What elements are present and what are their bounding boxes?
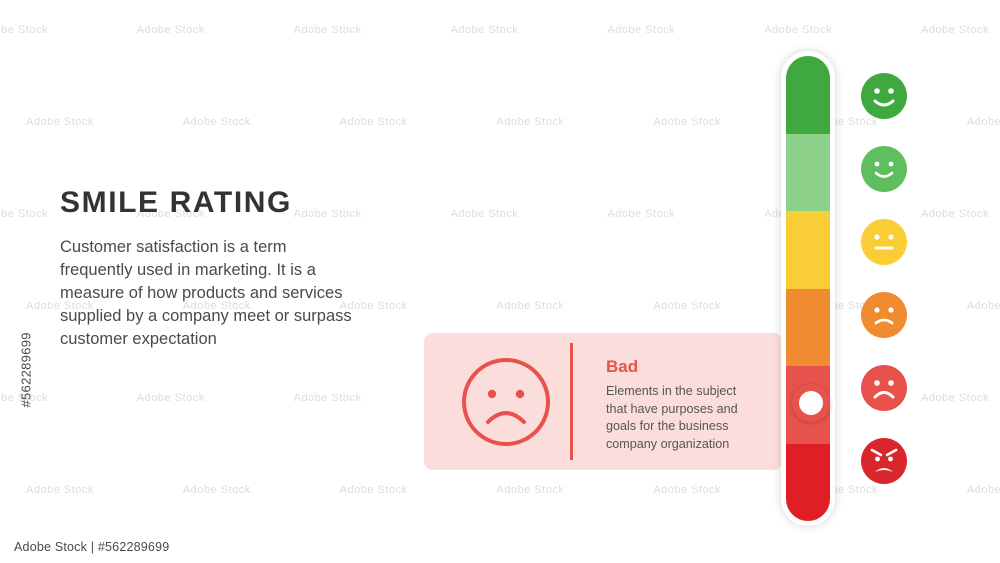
smiley-poor-icon[interactable]: [861, 292, 907, 338]
watermark-text: Adobe Stock: [294, 208, 362, 220]
card-body-text: Elements in the subject that have purpos…: [606, 383, 758, 453]
watermark-text: Adobe Stock: [653, 116, 721, 128]
watermark-text: Adobe Stock: [496, 116, 564, 128]
watermark-text: Adobe Stock: [450, 24, 518, 36]
watermark-text: Adobe Stock: [653, 300, 721, 312]
watermark-text: Adobe Stock: [967, 300, 1000, 312]
watermark-text: Adobe Stock: [496, 300, 564, 312]
watermark-text: Adobe Stock: [450, 208, 518, 220]
watermark-text: Adobe Stock: [0, 24, 48, 36]
watermark-text: Adobe Stock: [0, 208, 48, 220]
card-divider: [570, 343, 573, 460]
watermark-text: Adobe Stock: [26, 484, 94, 496]
watermark-text: Adobe Stock: [921, 24, 989, 36]
watermark-side-id: #562289699: [19, 268, 34, 408]
gauge-segment-poor[interactable]: [786, 289, 830, 367]
watermark-text: Adobe Stock: [921, 208, 989, 220]
watermark-text: Adobe Stock: [764, 24, 832, 36]
watermark-text: Adobe Stock: [26, 116, 94, 128]
sad-face-icon: [460, 356, 552, 448]
watermark-row: Adobe Stock Adobe Stock Adobe Stock Adob…: [26, 484, 1000, 496]
watermark-text: Adobe Stock: [967, 484, 1000, 496]
smiley-angry-icon[interactable]: [861, 438, 907, 484]
card-title: Bad: [606, 357, 638, 377]
smiley-happy-icon[interactable]: [861, 73, 907, 119]
gauge-segment-good[interactable]: [786, 134, 830, 212]
watermark-text: Adobe Stock: [340, 116, 408, 128]
satisfaction-gauge[interactable]: [786, 56, 830, 521]
page-description: Customer satisfaction is a term frequent…: [60, 236, 352, 351]
watermark-row: Adobe Stock Adobe Stock Adobe Stock Adob…: [26, 116, 1000, 128]
watermark-text: Adobe Stock: [183, 116, 251, 128]
gauge-knob[interactable]: [792, 384, 830, 422]
watermark-bottom-credit: Adobe Stock | #562289699: [14, 540, 169, 554]
gauge-segment-neutral[interactable]: [786, 211, 830, 289]
watermark-text: Adobe Stock: [607, 24, 675, 36]
watermark-text: Adobe Stock: [183, 484, 251, 496]
watermark-text: Adobe Stock: [967, 116, 1000, 128]
watermark-text: Adobe Stock: [921, 392, 989, 404]
watermark-text: Adobe Stock: [607, 208, 675, 220]
smiley-sad-icon[interactable]: [861, 365, 907, 411]
page-title: SMILE RATING: [60, 186, 292, 220]
watermark-text: Adobe Stock: [137, 24, 205, 36]
watermark-text: Adobe Stock: [137, 392, 205, 404]
rating-card[interactable]: Bad Elements in the subject that have pu…: [424, 333, 782, 470]
smiley-neutral-icon[interactable]: [861, 219, 907, 265]
gauge-segment-excellent[interactable]: [786, 56, 830, 134]
gauge-segment-terrible[interactable]: [786, 444, 830, 522]
watermark-text: Adobe Stock: [294, 24, 362, 36]
watermark-text: Adobe Stock: [653, 484, 721, 496]
watermark-text: Adobe Stock: [340, 484, 408, 496]
infographic-canvas: Adobe Stock Adobe Stock Adobe Stock Adob…: [0, 0, 1000, 563]
watermark-text: Adobe Stock: [294, 392, 362, 404]
smiley-good-icon[interactable]: [861, 146, 907, 192]
watermark-text: Adobe Stock: [496, 484, 564, 496]
watermark-row: Adobe Stock Adobe Stock Adobe Stock Adob…: [0, 24, 980, 36]
